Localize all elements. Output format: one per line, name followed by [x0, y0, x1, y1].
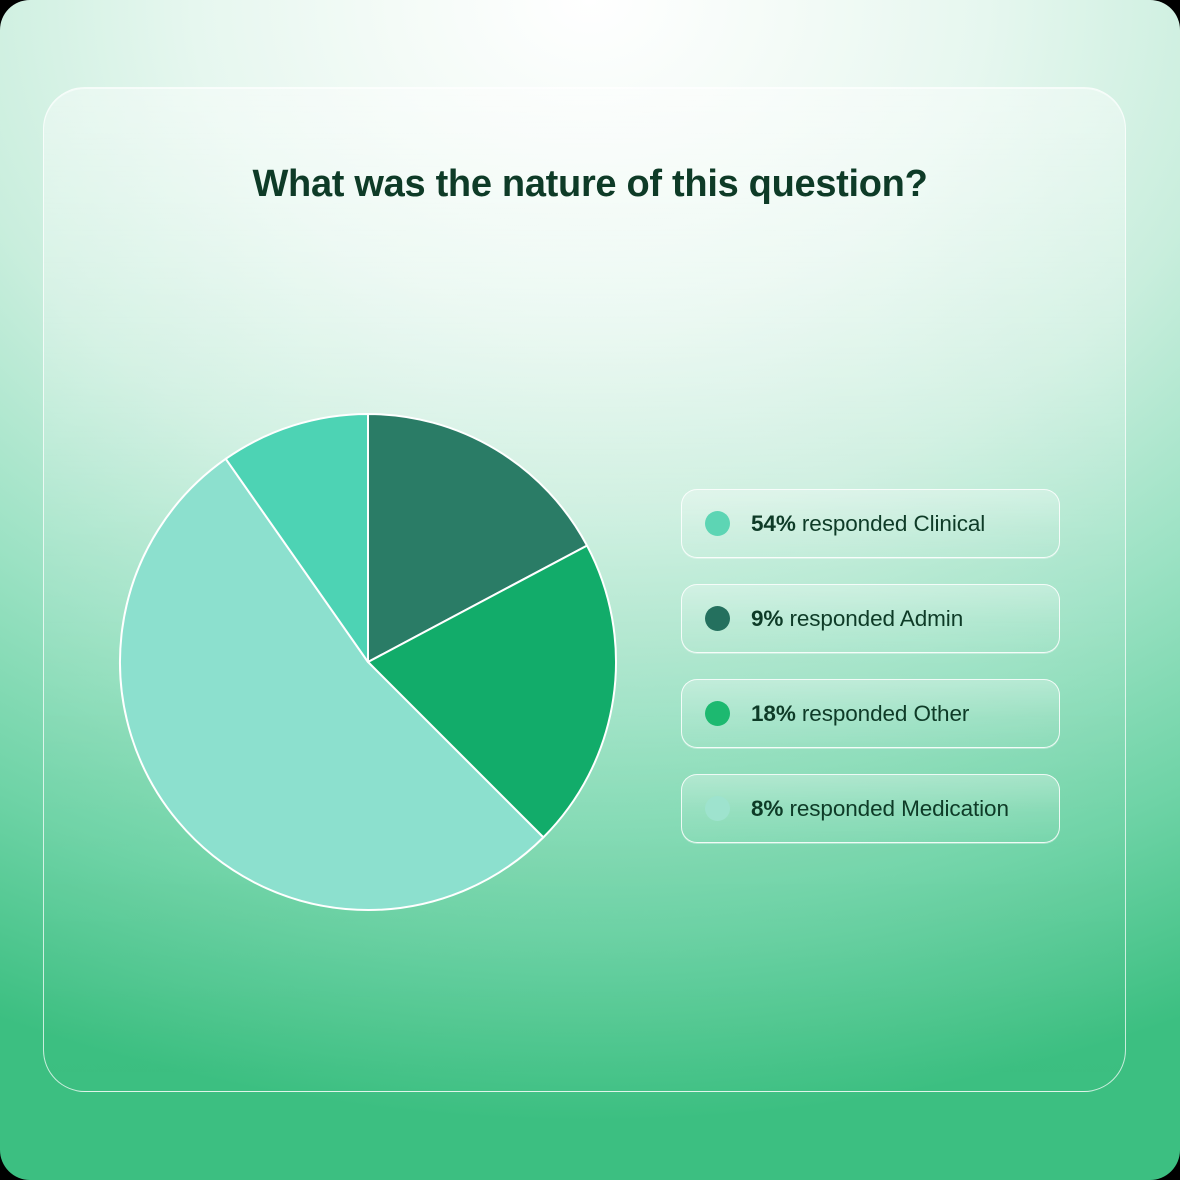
legend-item-label: 54% responded Clinical — [751, 511, 985, 537]
legend-item-text: responded Medication — [783, 796, 1009, 821]
page-root: What was the nature of this question? 54… — [0, 0, 1180, 1180]
legend-color-swatch — [705, 606, 730, 631]
legend-item-text: responded Admin — [783, 606, 963, 631]
legend-item-label: 9% responded Admin — [751, 606, 963, 632]
legend-item-percent: 8% — [751, 796, 783, 821]
legend-item-label: 18% responded Other — [751, 701, 969, 727]
pie-chart — [118, 412, 618, 912]
pie-chart-svg — [118, 412, 618, 912]
legend-item-percent: 54% — [751, 511, 796, 536]
legend-color-swatch — [705, 511, 730, 536]
legend-item-percent: 9% — [751, 606, 783, 631]
page-title: What was the nature of this question? — [0, 163, 1180, 206]
legend-item-text: responded Other — [796, 701, 970, 726]
legend-item-percent: 18% — [751, 701, 796, 726]
legend-item-text: responded Clinical — [796, 511, 985, 536]
legend-item-other[interactable]: 18% responded Other — [681, 679, 1060, 748]
legend-color-swatch — [705, 796, 730, 821]
legend-color-swatch — [705, 701, 730, 726]
legend-item-label: 8% responded Medication — [751, 796, 1009, 822]
legend-item-clinical[interactable]: 54% responded Clinical — [681, 489, 1060, 558]
legend-item-medication[interactable]: 8% responded Medication — [681, 774, 1060, 843]
legend-item-admin[interactable]: 9% responded Admin — [681, 584, 1060, 653]
chart-legend: 54% responded Clinical9% responded Admin… — [681, 489, 1060, 843]
